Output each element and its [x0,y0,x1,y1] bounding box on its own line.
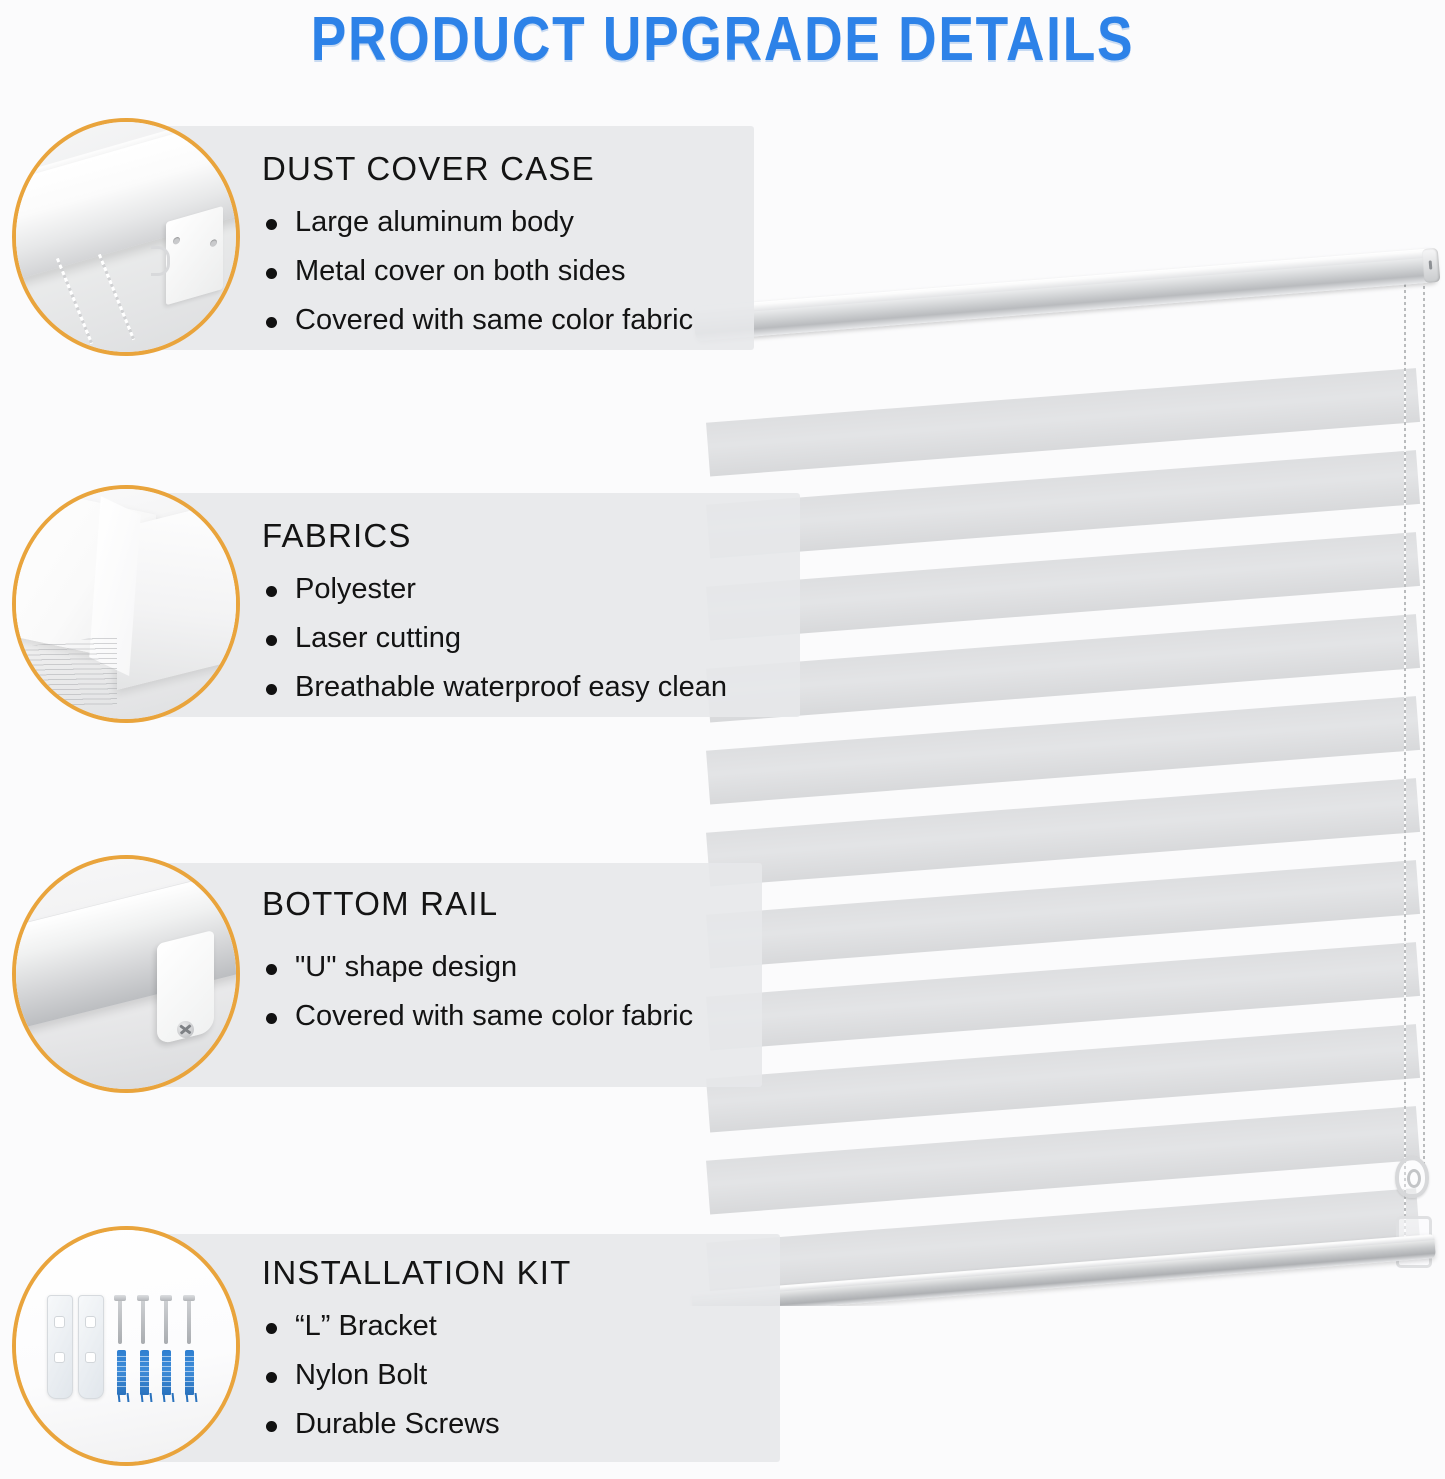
thumbnail-image [16,1230,236,1462]
bullet-item: Breathable waterproof easy clean [264,663,727,712]
cassette-hook [151,246,170,276]
nylon-anchor-icon [117,1350,126,1395]
l-bracket-icon [78,1295,104,1399]
folded-white-fabric-photo [16,489,236,719]
thumbnail-fabrics [12,485,240,723]
cassette-endcap [166,206,223,305]
aluminum-cassette-headrail-photo [16,122,236,352]
bullet-item: “L” Bracket [264,1302,500,1351]
bullet-item: Laser cutting [264,614,727,663]
thumbnail-bottom-rail [12,855,240,1093]
bullet-item: Large aluminum body [264,198,693,247]
feature-heading: BOTTOM RAIL [262,885,498,923]
fabric-mesh-texture [20,635,117,716]
screw-icon [118,1299,122,1344]
screw-icon [141,1299,145,1344]
headrail-dust-cover [693,248,1438,341]
bead-chain-icon [98,254,135,340]
nylon-anchor-icon [162,1350,171,1395]
screw-icon [187,1299,191,1344]
feature-bullet-list: Large aluminum body Metal cover on both … [264,198,693,345]
l-bracket-icon [47,1295,73,1399]
thumbnail-image [16,859,236,1089]
feature-fabrics: FABRICS Polyester Laser cutting Breathab… [0,485,760,723]
page-title: PRODUCT UPGRADE DETAILS [101,0,1344,78]
bullet-item: Metal cover on both sides [264,247,693,296]
bullet-item: Durable Screws [264,1400,500,1449]
screw-icon [164,1299,168,1344]
brackets-screws-anchors-photo [16,1230,236,1462]
feature-bullet-list: Polyester Laser cutting Breathable water… [264,565,727,712]
thumbnail-installation-kit [12,1226,240,1466]
bullet-item: "U" shape design [264,943,693,992]
thumbnail-image [16,122,236,352]
bead-chain[interactable] [1404,278,1406,1258]
feature-bullet-list: "U" shape design Covered with same color… [264,943,693,1041]
feature-heading: FABRICS [262,517,412,555]
bead-chain[interactable] [1423,274,1425,1164]
bottom-rail-endcap-photo [16,859,236,1089]
feature-installation-kit: INSTALLATION KIT “L” Bracket Nylon Bolt … [0,1226,760,1471]
headrail-endcap [1422,248,1441,283]
bullet-item: Covered with same color fabric [264,296,693,345]
product-image-zebra-roller-blind [688,196,1445,1306]
kit-parts-group [47,1295,210,1397]
bead-chain-icon [56,258,93,344]
nylon-anchor-icon [140,1350,149,1395]
thumbnail-image [16,489,236,719]
feature-bullet-list: “L” Bracket Nylon Bolt Durable Screws [264,1302,500,1449]
chain-weight[interactable] [1395,1156,1429,1198]
thumbnail-dust-cover-case [12,118,240,356]
feature-heading: INSTALLATION KIT [262,1254,572,1292]
feature-dust-cover-case: DUST COVER CASE Large aluminum body Meta… [0,118,760,356]
bullet-item: Covered with same color fabric [264,992,693,1041]
feature-heading: DUST COVER CASE [262,150,595,188]
nylon-anchor-icon [185,1350,194,1395]
bullet-item: Nylon Bolt [264,1351,500,1400]
bullet-item: Polyester [264,565,727,614]
feature-bottom-rail: BOTTOM RAIL "U" shape design Covered wit… [0,855,760,1093]
